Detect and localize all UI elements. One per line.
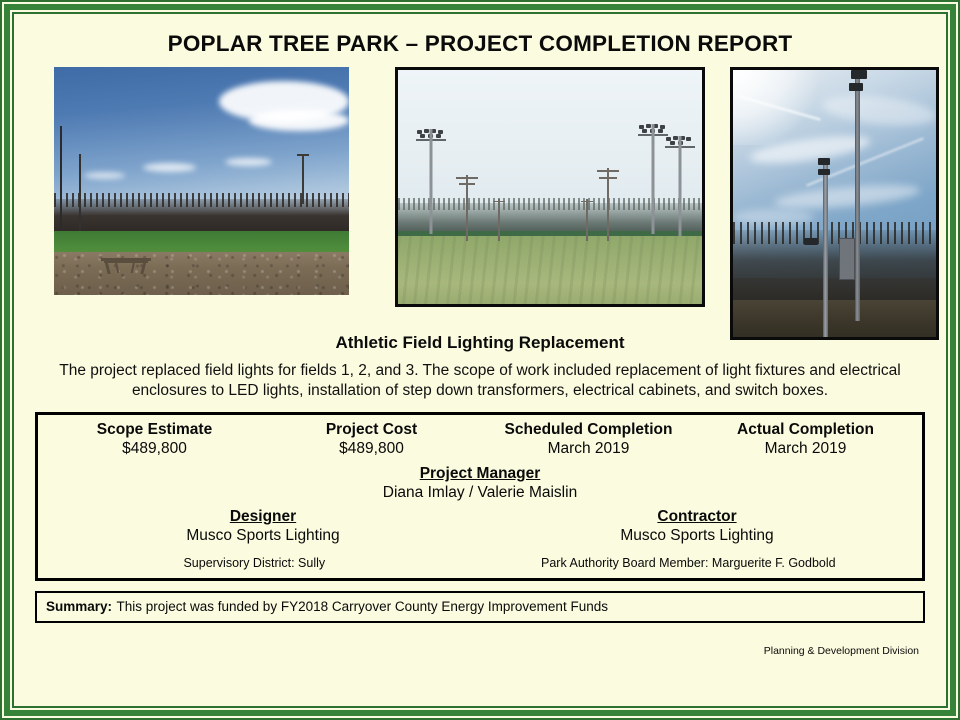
ground-layer [733, 300, 936, 337]
designer-label: Designer [46, 508, 480, 526]
details-header-row: Scope Estimate $489,800 Project Cost $48… [46, 421, 914, 458]
photo-gallery [29, 65, 931, 345]
detail-value: $489,800 [46, 439, 263, 458]
designer-contractor-row: Designer Musco Sports Lighting Contracto… [46, 508, 914, 545]
utility-pole-shape [596, 168, 620, 241]
light-fixture-shape [804, 238, 818, 245]
project-description: The project replaced field lights for fi… [43, 361, 917, 402]
detail-label: Project Cost [263, 421, 480, 439]
light-fixture-shape [851, 70, 867, 79]
pole-shape [79, 154, 81, 232]
picnic-table-shape [101, 254, 151, 275]
light-pole-shape [855, 70, 860, 321]
treeline-layer [733, 230, 936, 305]
utility-pole-shape [456, 175, 478, 241]
detail-column-scheduled-completion: Scheduled Completion March 2019 [480, 421, 697, 458]
project-manager-label: Project Manager [46, 465, 914, 483]
light-pole-shape [666, 136, 694, 237]
grass-layer [398, 236, 702, 304]
contractor-value: Musco Sports Lighting [480, 526, 914, 545]
designer-block: Designer Musco Sports Lighting [46, 508, 480, 545]
details-meta-row: Supervisory District: Sully Park Authori… [46, 554, 914, 574]
cloud-shape [249, 110, 349, 131]
designer-value: Musco Sports Lighting [46, 526, 480, 545]
light-fixture-shape [849, 83, 863, 91]
detail-label: Scheduled Completion [480, 421, 697, 439]
detail-column-actual-completion: Actual Completion March 2019 [697, 421, 914, 458]
project-details-box: Scope Estimate $489,800 Project Cost $48… [35, 412, 925, 581]
detail-label: Actual Completion [697, 421, 914, 439]
light-fixture-shape [818, 169, 830, 175]
electrical-cabinet-shape [839, 238, 855, 280]
board-member-block: Park Authority Board Member: Marguerite … [463, 554, 914, 572]
footer-division: Planning & Development Division [29, 623, 931, 657]
utility-pole-shape [580, 199, 594, 241]
page-title: POPLAR TREE PARK – PROJECT COMPLETION RE… [29, 15, 931, 65]
board-member-text: Park Authority Board Member: Marguerite … [541, 556, 836, 570]
detail-column-project-cost: Project Cost $489,800 [263, 421, 480, 458]
supervisory-district-text: Supervisory District: Sully [183, 556, 325, 570]
infield-dirt-layer [54, 252, 349, 295]
project-manager-value: Diana Imlay / Valerie Maislin [46, 483, 914, 502]
detail-value: $489,800 [263, 439, 480, 458]
photo-ball-field-with-picnic-table [54, 67, 349, 295]
detail-value: March 2019 [697, 439, 914, 458]
light-pole-shape [416, 129, 446, 234]
utility-pole-shape [492, 199, 506, 241]
light-fixture-shape [818, 158, 830, 165]
summary-label: Summary: [46, 599, 112, 614]
photo-light-pole-closeup [730, 67, 939, 340]
summary-box: Summary: This project was funded by FY20… [35, 591, 925, 623]
supervisory-district-block: Supervisory District: Sully [46, 554, 463, 572]
pole-shape [60, 126, 62, 229]
contractor-label: Contractor [480, 508, 914, 526]
contractor-block: Contractor Musco Sports Lighting [480, 508, 914, 545]
report-page: POPLAR TREE PARK – PROJECT COMPLETION RE… [15, 15, 945, 705]
cloud-shape [143, 163, 196, 172]
photo-athletic-field-with-light-poles [395, 67, 705, 307]
project-manager-block: Project Manager Diana Imlay / Valerie Ma… [46, 465, 914, 502]
cloud-shape [84, 172, 125, 179]
light-pole-shape [823, 158, 828, 337]
pole-shape [302, 154, 304, 204]
summary-text: This project was funded by FY2018 Carryo… [116, 599, 607, 614]
detail-value: March 2019 [480, 439, 697, 458]
detail-column-scope-estimate: Scope Estimate $489,800 [46, 421, 263, 458]
detail-label: Scope Estimate [46, 421, 263, 439]
